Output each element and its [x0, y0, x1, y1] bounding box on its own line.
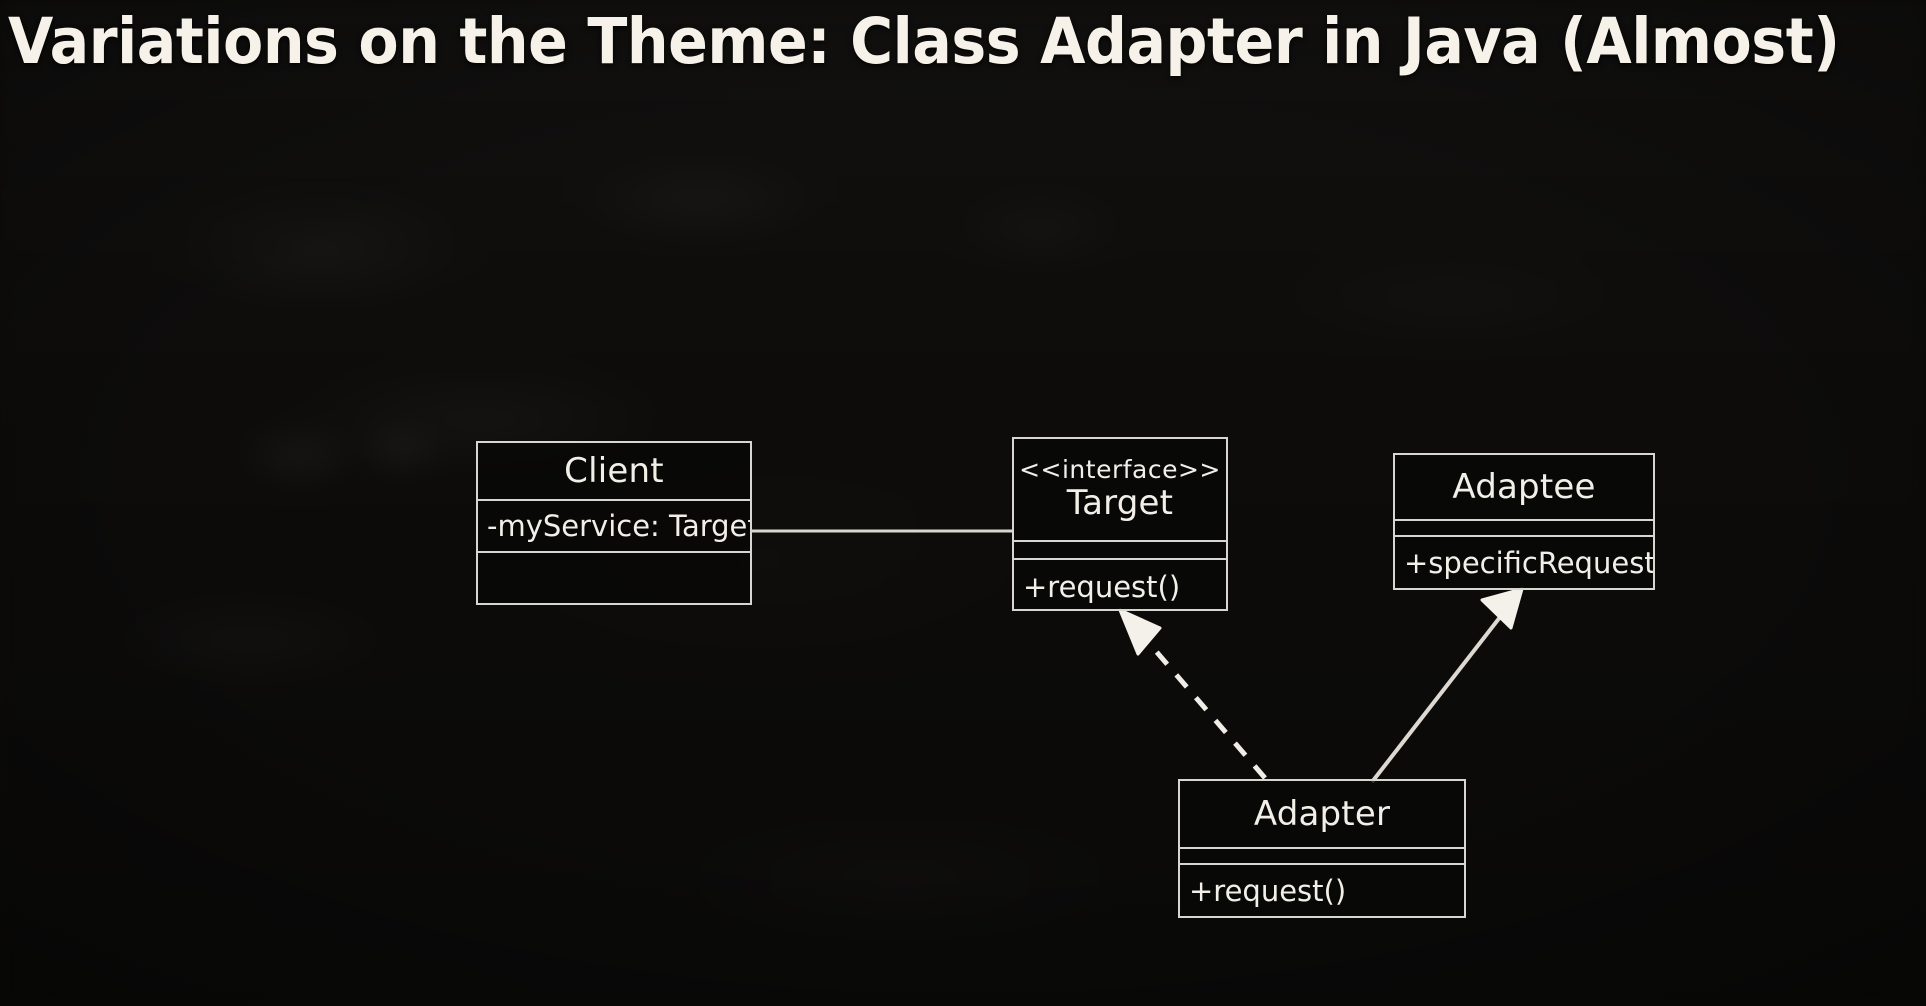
uml-class-adaptee-attributes: [1395, 519, 1653, 535]
uml-class-adaptee-name: Adaptee: [1395, 455, 1653, 519]
uml-class-target-name-text: Target: [1067, 484, 1173, 522]
uml-class-client-name: Client: [478, 443, 750, 499]
uml-class-adapter-attributes: [1180, 847, 1464, 863]
generalization-adapter-adaptee-line: [1372, 612, 1504, 782]
uml-class-adaptee-operation-text: +specificRequest(): [1404, 546, 1653, 580]
uml-class-adaptee[interactable]: Adaptee +specificRequest(): [1393, 453, 1655, 590]
uml-class-client-name-text: Client: [564, 451, 664, 491]
uml-class-target-operation: +request(): [1014, 558, 1226, 613]
uml-class-client-attribute: -myService: Target: [478, 499, 750, 551]
uml-class-adapter-operation-text: +request(): [1189, 874, 1346, 908]
slide-canvas: Variations on the Theme: Class Adapter i…: [0, 0, 1926, 1006]
uml-class-target-stereotype: <<interface>>: [1019, 456, 1221, 484]
uml-class-target[interactable]: <<interface>> Target +request(): [1012, 437, 1228, 611]
uml-class-target-attributes: [1014, 540, 1226, 558]
uml-class-adapter-name-text: Adapter: [1254, 794, 1390, 834]
uml-class-diagram: Client -myService: Target <<interface>> …: [0, 0, 1926, 1006]
realization-adapter-target-arrowhead: [1120, 610, 1160, 654]
realization-adapter-target-line: [1136, 628, 1265, 778]
uml-class-adapter-name: Adapter: [1180, 781, 1464, 847]
uml-class-client-attribute-text: -myService: Target: [487, 509, 750, 543]
generalization-adapter-adaptee-arrowhead: [1482, 589, 1522, 628]
uml-class-target-operation-text: +request(): [1023, 570, 1180, 604]
uml-class-adaptee-operation: +specificRequest(): [1395, 535, 1653, 588]
uml-class-target-name: <<interface>> Target: [1014, 439, 1226, 540]
uml-class-adapter-operation: +request(): [1180, 863, 1464, 916]
uml-class-adaptee-name-text: Adaptee: [1452, 467, 1595, 507]
uml-class-client-operations: [478, 551, 750, 603]
uml-class-client[interactable]: Client -myService: Target: [476, 441, 752, 605]
uml-class-adapter[interactable]: Adapter +request(): [1178, 779, 1466, 918]
